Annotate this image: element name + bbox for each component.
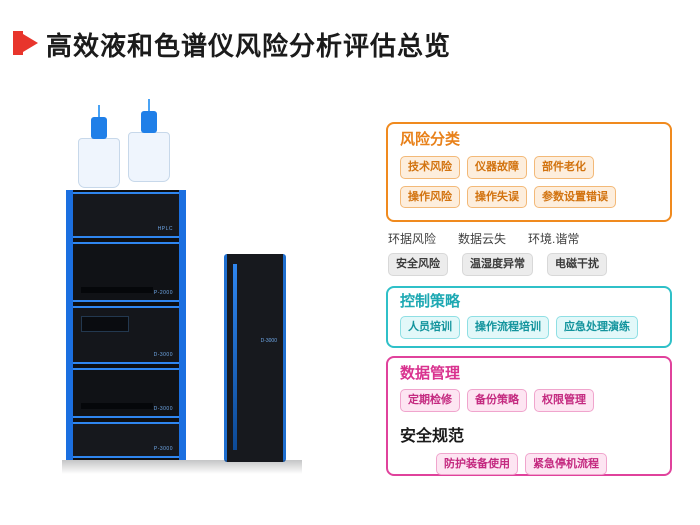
stack-module: HPLC: [73, 192, 179, 238]
risk-chip[interactable]: 技术风险: [400, 156, 460, 179]
risk-panel-title: 风险分类: [400, 132, 670, 147]
environment-chip-row: 安全风险 温湿度异常 电磁干扰: [388, 253, 678, 276]
photo-shadow: [62, 460, 302, 474]
control-chip[interactable]: 人员培训: [400, 316, 460, 339]
environment-risk-group: 环据风险 数据云失 环境.谐常 安全风险 温湿度异常 电磁干扰: [388, 230, 678, 276]
solvent-bottle-2: [128, 132, 170, 182]
module-label: HPLC: [158, 226, 173, 232]
column-oven-tower: D-3000: [224, 254, 286, 462]
tower-accent-strip: [233, 264, 237, 450]
module-label: D-3000: [154, 406, 173, 412]
risk-chip-row: 操作风险 操作失误 参数设置错误: [400, 186, 670, 209]
safety-norm-title: 安全规范: [400, 422, 670, 446]
tower-label: D-3000: [261, 338, 277, 344]
page-title: 高效液和色谱仪风险分析评估总览: [46, 26, 451, 63]
control-strategy-panel[interactable]: 控制策略 人员培训 操作流程培训 应急处理演练: [386, 286, 672, 348]
module-label: D-3000: [154, 352, 173, 358]
module-slot: [81, 287, 153, 293]
environment-label: 环境.谐常: [528, 230, 579, 247]
stack-module: D-3000: [73, 368, 179, 418]
risk-chip[interactable]: 仪器故障: [467, 156, 527, 179]
data-chip[interactable]: 备份策略: [467, 389, 527, 412]
safety-chip-row: 防护装备使用 紧急停机流程: [436, 453, 670, 476]
data-panel-title: 数据管理: [400, 366, 670, 381]
environment-label: 环据风险: [388, 230, 436, 247]
safety-chip[interactable]: 防护装备使用: [436, 453, 518, 476]
risk-chip[interactable]: 部件老化: [534, 156, 594, 179]
environment-chip[interactable]: 温湿度异常: [462, 253, 533, 276]
bottle-cap-icon: [141, 111, 157, 133]
header-arrow-icon: [18, 31, 38, 55]
risk-category-panel[interactable]: 风险分类 技术风险 仪器故障 部件老化 操作风险 操作失误 参数设置错误: [386, 122, 672, 222]
module-label: P-2000: [154, 290, 173, 296]
stack-module: P-2000: [73, 242, 179, 302]
control-panel-title: 控制策略: [400, 294, 670, 309]
instrument-photo: HPLC P-2000 D-3000 D-3000 P-3000 D-3000: [62, 82, 362, 492]
environment-chip[interactable]: 安全风险: [388, 253, 448, 276]
stack-module: P-3000: [73, 422, 179, 458]
stack-module: D-3000: [73, 306, 179, 364]
data-chip-rows: 定期检修 备份策略 权限管理: [400, 389, 670, 412]
page-header: 高效液和色谱仪风险分析评估总览: [0, 0, 700, 78]
module-display: [81, 316, 129, 332]
control-chip[interactable]: 应急处理演练: [556, 316, 638, 339]
solvent-bottle-1: [78, 138, 120, 188]
risk-chip-row: 技术风险 仪器故障 部件老化: [400, 156, 670, 179]
module-label: P-3000: [154, 446, 173, 452]
data-chip-row: 定期检修 备份策略 权限管理: [400, 389, 670, 412]
control-chip-row: 人员培训 操作流程培训 应急处理演练: [400, 316, 670, 339]
environment-label: 数据云失: [458, 230, 506, 247]
risk-chip-rows: 技术风险 仪器故障 部件老化 操作风险 操作失误 参数设置错误: [400, 156, 670, 208]
control-chip-rows: 人员培训 操作流程培训 应急处理演练: [400, 316, 670, 339]
risk-chip[interactable]: 操作风险: [400, 186, 460, 209]
data-management-panel[interactable]: 数据管理 定期检修 备份策略 权限管理 安全规范 防护装备使用 紧急停机流程: [386, 356, 672, 476]
risk-chip[interactable]: 参数设置错误: [534, 186, 616, 209]
data-chip[interactable]: 定期检修: [400, 389, 460, 412]
safety-chip[interactable]: 紧急停机流程: [525, 453, 607, 476]
module-slot: [81, 403, 153, 409]
safety-chip-rows: 防护装备使用 紧急停机流程: [436, 453, 670, 476]
environment-chip[interactable]: 电磁干扰: [547, 253, 607, 276]
hplc-module-stack: HPLC P-2000 D-3000 D-3000 P-3000: [66, 190, 186, 460]
risk-chip[interactable]: 操作失误: [467, 186, 527, 209]
data-chip[interactable]: 权限管理: [534, 389, 594, 412]
bottle-cap-icon: [91, 117, 107, 139]
control-chip[interactable]: 操作流程培训: [467, 316, 549, 339]
environment-label-row: 环据风险 数据云失 环境.谐常: [388, 230, 678, 247]
